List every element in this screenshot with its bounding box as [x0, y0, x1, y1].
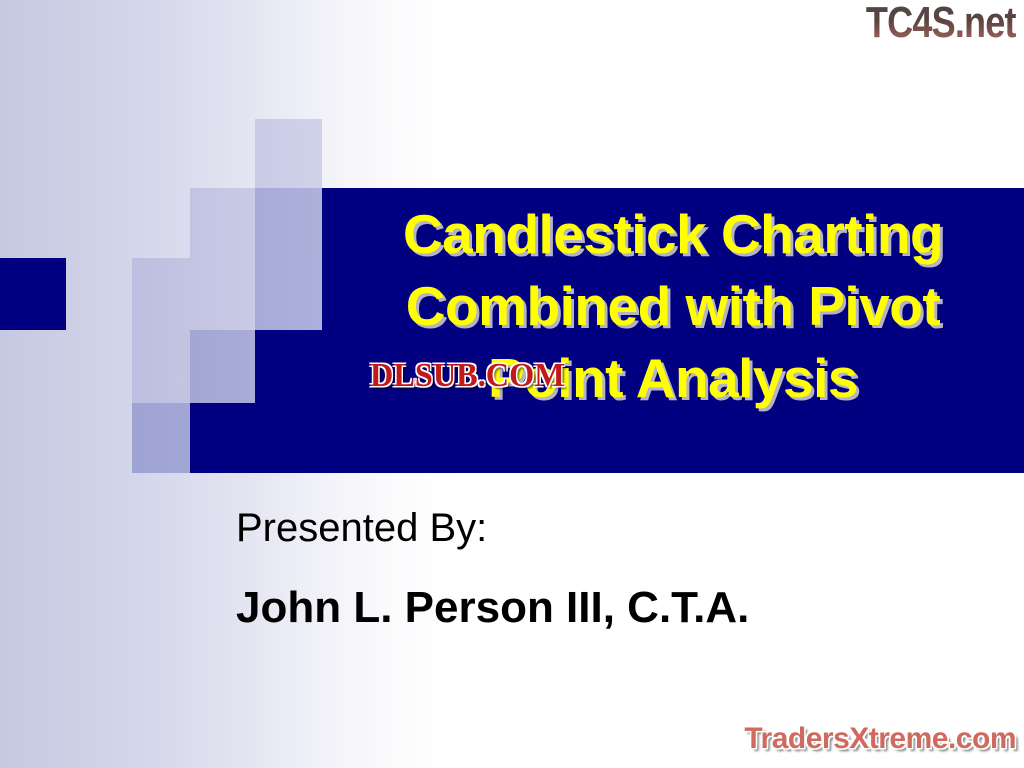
decor-square [132, 258, 190, 330]
decor-square [190, 188, 255, 258]
decor-square [255, 258, 322, 330]
decor-square [190, 330, 255, 403]
decor-square [190, 258, 255, 330]
navy-accent-block [0, 258, 66, 330]
title-line-2: Combined with Pivot [322, 270, 1024, 342]
decor-square [132, 330, 190, 403]
title-line-1: Candlestick Charting [322, 198, 1024, 270]
decor-square [255, 188, 322, 258]
watermark-tradersxtreme-com: TradersXtreme.com [744, 722, 1016, 756]
decor-square [132, 403, 190, 473]
presented-by-label: Presented By: [236, 506, 487, 551]
watermark-tc4s-net: TC4S.net [866, 0, 1016, 48]
decor-square [255, 119, 322, 188]
title-slide: Candlestick Charting Combined with Pivot… [0, 0, 1024, 768]
presenter-name: John L. Person III, C.T.A. [236, 583, 749, 633]
watermark-dlsub-com: DLSUB.COM [370, 357, 565, 395]
